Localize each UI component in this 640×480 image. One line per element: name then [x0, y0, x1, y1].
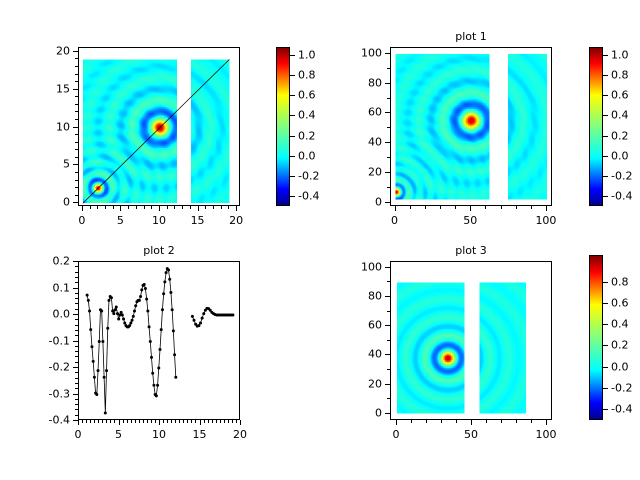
x-major-tick	[546, 420, 547, 425]
y-major-tick	[385, 325, 390, 326]
x-minor-tick	[501, 420, 502, 423]
title-bottom-right: plot 3	[455, 244, 487, 257]
colorbar-tick-label: -0.4	[611, 403, 632, 416]
x-tick-label: 50	[464, 428, 478, 441]
x-minor-tick	[516, 420, 517, 423]
y-minor-tick	[387, 281, 390, 282]
x-tick-label: 100	[536, 428, 557, 441]
y-minor-tick	[387, 398, 390, 399]
x-minor-tick	[486, 420, 487, 423]
colorbar-tick-label: 0.0	[611, 360, 629, 373]
y-minor-tick	[387, 369, 390, 370]
colorbar-tick	[603, 367, 608, 368]
y-major-tick	[385, 267, 390, 268]
colorbar-tick-label: -0.2	[611, 382, 632, 395]
y-minor-tick	[387, 340, 390, 341]
y-tick-label: 20	[368, 377, 382, 390]
colorbar-bottom-right	[589, 255, 603, 420]
y-tick-label: 60	[368, 319, 382, 332]
axes-bottom-right	[390, 261, 552, 420]
colorbar-tick	[603, 409, 608, 410]
colorbar-tick	[603, 303, 608, 304]
colorbar-tick-label: 0.4	[611, 318, 629, 331]
y-minor-tick	[387, 311, 390, 312]
y-tick-label: 0	[375, 406, 382, 419]
colorbar-tick	[603, 388, 608, 389]
x-minor-tick	[411, 420, 412, 423]
colorbar-tick-label: 0.2	[611, 339, 629, 352]
x-minor-tick	[441, 420, 442, 423]
x-tick-label: 0	[393, 428, 400, 441]
subplot-bottom-right: 050100020406080100plot 30.80.60.40.20.0-…	[0, 0, 640, 480]
x-major-tick	[471, 420, 472, 425]
x-minor-tick	[456, 420, 457, 423]
x-minor-tick	[531, 420, 532, 423]
x-major-tick	[396, 420, 397, 425]
figure-canvas: 05101520051015201.00.80.60.40.20.0-0.2-0…	[0, 0, 640, 480]
y-major-tick	[385, 296, 390, 297]
colorbar-tick	[603, 282, 608, 283]
y-tick-label: 100	[361, 260, 382, 273]
y-tick-label: 40	[368, 348, 382, 361]
colorbar-tick	[603, 324, 608, 325]
colorbar-tick	[603, 345, 608, 346]
y-major-tick	[385, 354, 390, 355]
plot-area-bottom-right	[391, 262, 551, 419]
colorbar-gradient-bottom-right	[590, 256, 602, 419]
heatmap-image-bottom-right	[391, 262, 551, 419]
y-tick-label: 80	[368, 290, 382, 303]
colorbar-tick-label: 0.6	[611, 296, 629, 309]
y-major-tick	[385, 384, 390, 385]
y-major-tick	[385, 413, 390, 414]
colorbar-tick-label: 0.8	[611, 275, 629, 288]
x-minor-tick	[426, 420, 427, 423]
